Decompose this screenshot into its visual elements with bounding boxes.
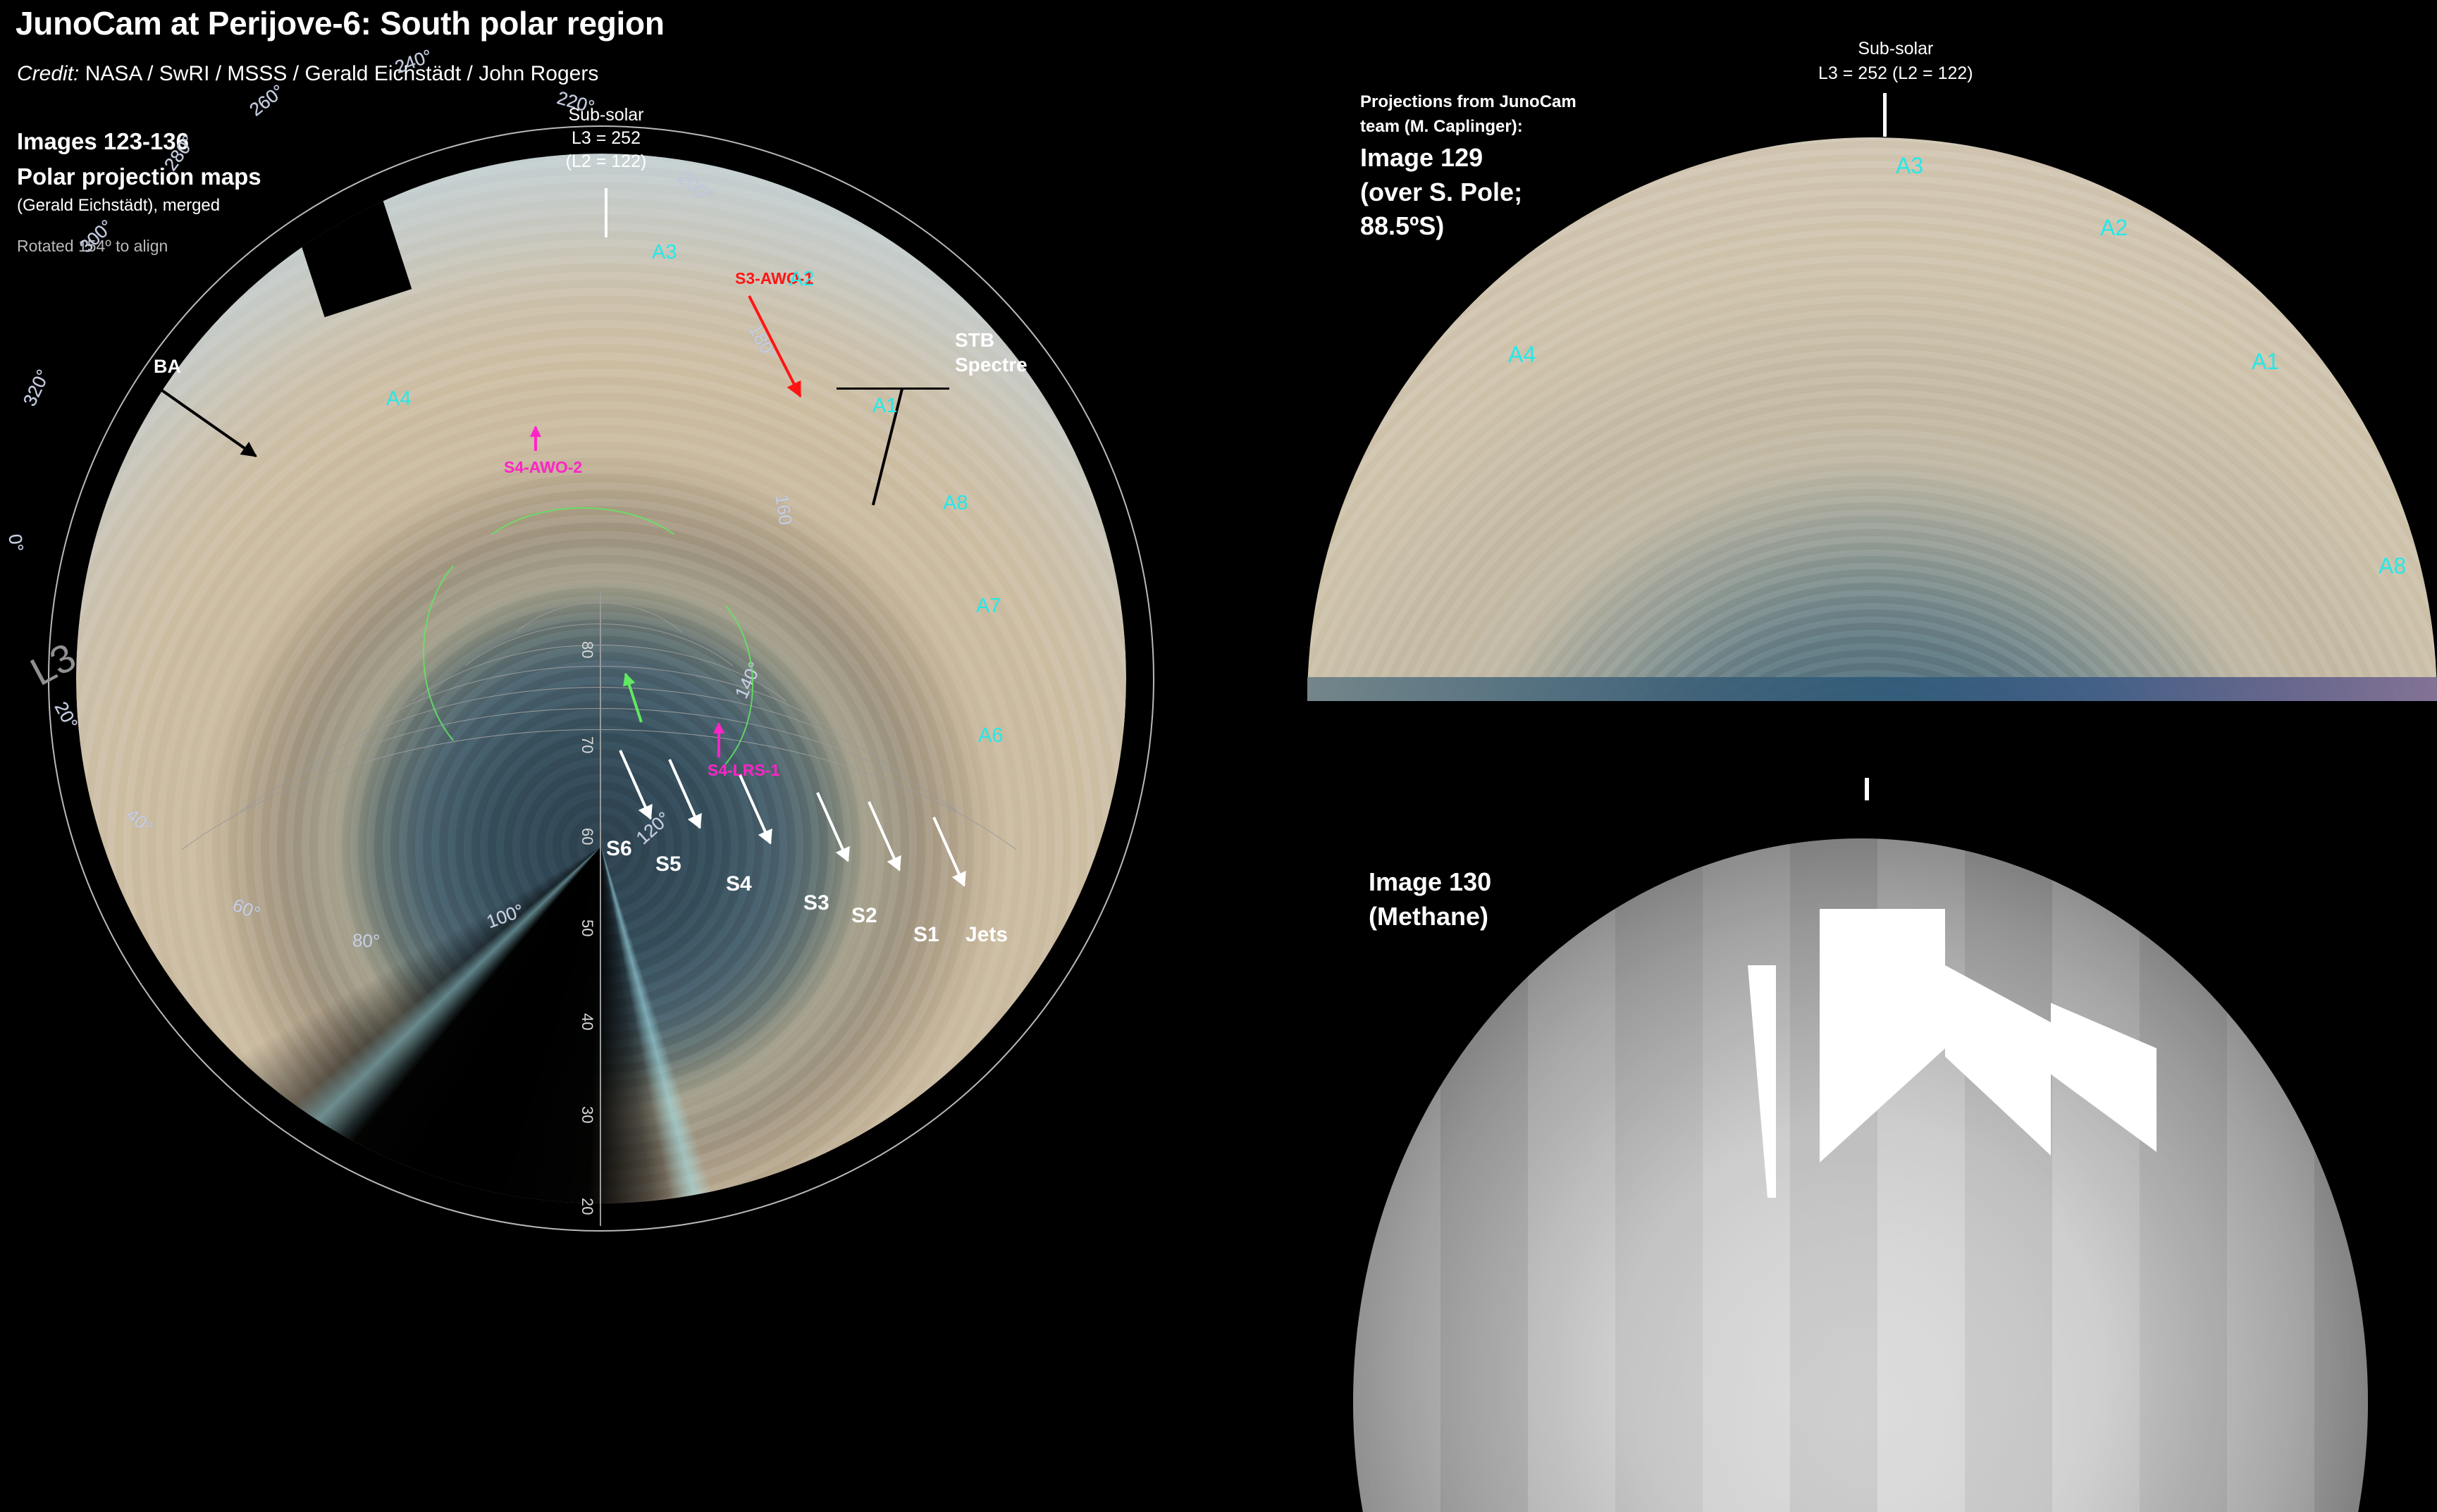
latitude-label-20: 20: [578, 1198, 596, 1215]
subsolar-l2: (L2 = 122): [536, 150, 677, 173]
subsolar-marker-right: Sub-solar L3 = 252 (L2 = 122): [1818, 37, 1973, 86]
annotation-s4-awo-2: S4-AWO-2: [504, 458, 582, 477]
subsolar-tick-right: [1883, 93, 1887, 137]
latitude-arc-20: [62, 729, 1136, 1377]
longitude-label-320: 320°: [18, 366, 54, 410]
credit-text: NASA / SwRI / MSSS / Gerald Eichstädt / …: [79, 62, 598, 85]
jets-group-label: Jets: [965, 923, 1008, 947]
anticyclone-label-a3: A3: [652, 241, 677, 264]
longitude-label-280: 280°: [160, 132, 200, 175]
subsolar-marker-left: Sub-solar L3 = 252 (L2 = 122): [536, 104, 677, 173]
credit-label: Credit:: [17, 62, 79, 85]
anticyclone-label-a4: A4: [386, 388, 411, 411]
longitude-label-0: 0°: [4, 533, 27, 553]
jet-label-s6: S6: [606, 837, 632, 861]
annotation-ba: BA: [154, 356, 181, 378]
anticyclone-label-a2-right: A2: [2100, 215, 2128, 241]
subsolar-label: Sub-solar: [536, 104, 677, 127]
jet-label-s4: S4: [726, 872, 752, 896]
latitude-label-60: 60: [578, 828, 596, 845]
subsolar-tick-left: [605, 188, 607, 237]
projections-note: Projections from JunoCam team (M. Caplin…: [1360, 90, 1577, 140]
jet-label-s3: S3: [803, 891, 829, 915]
projections-note-line2: team (M. Caplinger):: [1360, 115, 1577, 140]
credit-line: Credit: NASA / SwRI / MSSS / Gerald Eich…: [17, 62, 598, 86]
projections-note-line1: Projections from JunoCam: [1360, 90, 1577, 115]
longitude-label-300: 300°: [75, 216, 118, 258]
anticyclone-label-a4-right: A4: [1508, 342, 1536, 368]
longitude-label-160: 160: [770, 493, 796, 526]
image-129-disc: A3 A2 A1 A8 A4: [1307, 137, 2437, 701]
annotation-stb-spectre: STB Spectre: [955, 328, 1028, 377]
anticyclone-label-a8-right: A8: [2379, 553, 2406, 579]
jet-label-s1: S1: [913, 923, 939, 947]
latitude-label-30: 30: [578, 1106, 596, 1123]
latitude-label-40: 40: [578, 1013, 596, 1030]
latitude-label-50: 50: [578, 919, 596, 936]
latitude-label-70: 70: [578, 736, 596, 753]
subsolar-tick-bottom: [1865, 778, 1869, 800]
polar-projection-map: 80 70 60 50 40 30 20 260° 240° 220° 200°…: [0, 85, 1269, 1423]
anticyclone-label-a7: A7: [976, 595, 1001, 618]
jet-label-s5: S5: [655, 853, 681, 876]
anticyclone-label-a8: A8: [943, 492, 968, 515]
page-title: JunoCam at Perijove-6: South polar regio…: [16, 4, 665, 42]
subsolar-label-right: Sub-solar: [1818, 37, 1973, 61]
stb-spectre-line1: STB: [955, 328, 1028, 352]
anticyclone-label-a6: A6: [978, 724, 1003, 748]
subsolar-values-right: L3 = 252 (L2 = 122): [1818, 61, 1973, 86]
anticyclone-label-a2: A2: [789, 268, 814, 291]
anticyclone-label-a1-right: A1: [2252, 349, 2279, 375]
stb-spectre-line2: Spectre: [955, 352, 1028, 377]
stb-leader-horizontal: [837, 388, 949, 390]
jet-label-s2: S2: [851, 904, 877, 928]
anticyclone-label-a1: A1: [872, 395, 897, 418]
longitude-label-80: 80°: [352, 929, 380, 952]
anticyclone-label-a3-right: A3: [1896, 153, 1923, 179]
subsolar-l3: L3 = 252: [536, 127, 677, 150]
longitude-label-260: 260°: [245, 80, 288, 121]
image-130-methane-disc: [1325, 838, 2437, 1512]
